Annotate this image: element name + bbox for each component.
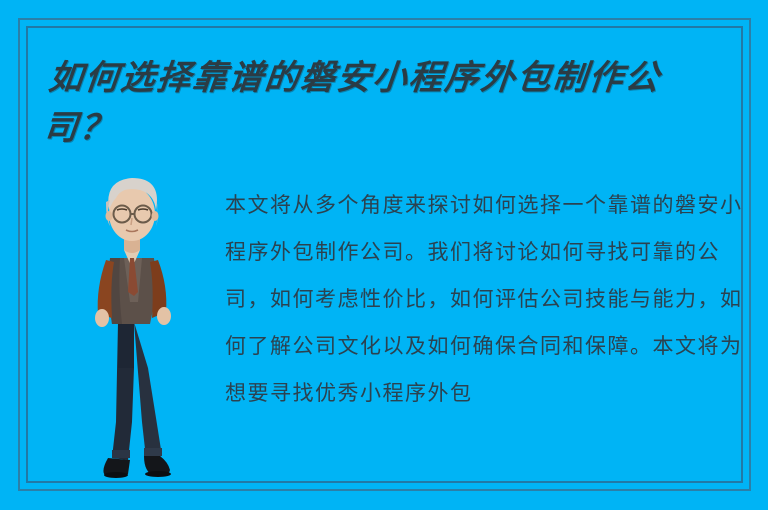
article-title: 如何选择靠谱的磐安小程序外包制作公司？ [41, 54, 732, 154]
article-body-text: 本文将从多个角度来探讨如何选择一个靠谱的磐安小程序外包制作公司。我们将讨论如何寻… [225, 182, 745, 417]
article-banner: 如何选择靠谱的磐安小程序外包制作公司？ [0, 0, 768, 510]
avatar-illustration [72, 172, 192, 484]
